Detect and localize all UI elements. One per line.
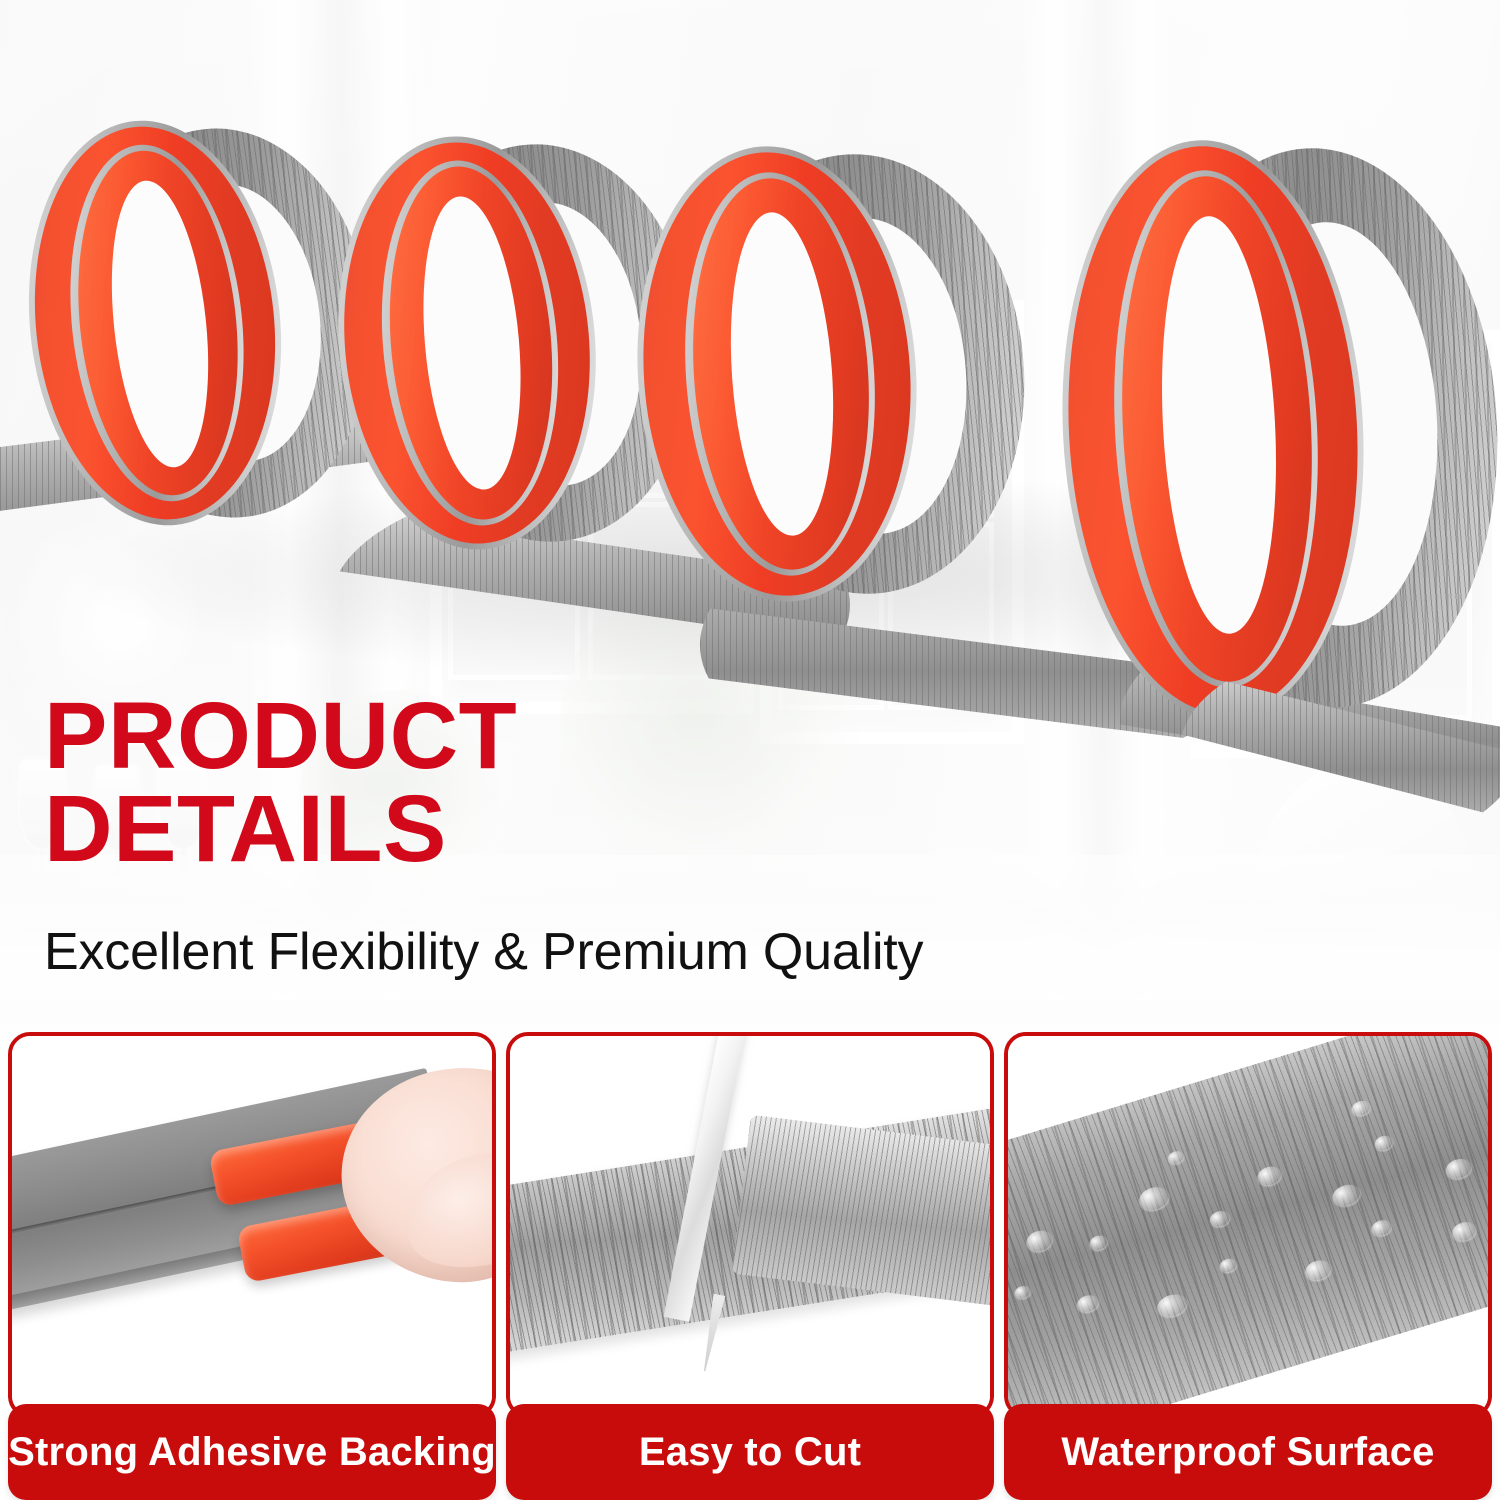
page-title: PRODUCT DETAILS [44, 690, 904, 876]
water-droplet [1136, 1184, 1171, 1214]
adhesive-backing-photo [12, 1036, 492, 1414]
headline-line-1: PRODUCT [44, 683, 517, 789]
panel-frame [8, 1032, 496, 1418]
water-droplet [1255, 1164, 1283, 1188]
water-droplet [1350, 1099, 1372, 1118]
headline-line-2: DETAILS [44, 783, 904, 876]
water-droplet [1013, 1284, 1032, 1300]
feature-panel-waterproof: Waterproof Surface [1004, 1032, 1492, 1500]
feature-panel-cut: Easy to Cut [506, 1032, 994, 1500]
water-droplet [1208, 1209, 1232, 1229]
coil-4 [1035, 130, 1500, 730]
water-droplet [1370, 1218, 1394, 1238]
water-droplet [1088, 1234, 1109, 1253]
water-droplet [1218, 1257, 1238, 1274]
panel-frame [1004, 1032, 1492, 1418]
panel-caption-cut: Easy to Cut [506, 1404, 994, 1500]
water-droplet [1166, 1149, 1185, 1165]
water-droplet [1443, 1156, 1473, 1182]
waterproof-surface-photo [1008, 1036, 1488, 1414]
water-droplet [1330, 1182, 1363, 1209]
coil-3 [612, 138, 1032, 608]
product-details-poster: PRODUCT DETAILS Excellent Flexibility & … [0, 0, 1500, 1500]
easy-to-cut-photo [510, 1036, 990, 1414]
water-droplet [1155, 1291, 1190, 1320]
water-droplet [1024, 1228, 1055, 1255]
subheadline: Excellent Flexibility & Premium Quality [44, 925, 1244, 980]
panel-frame [506, 1032, 994, 1418]
feature-panels: Strong Adhesive Backing Easy to Cut [0, 1032, 1500, 1500]
water-droplet [1373, 1134, 1394, 1153]
water-droplet [1303, 1257, 1333, 1283]
panel-caption-waterproof: Waterproof Surface [1004, 1404, 1492, 1500]
water-droplet [1450, 1219, 1478, 1243]
water-droplet [1075, 1293, 1101, 1315]
panel-caption-adhesive: Strong Adhesive Backing [8, 1404, 496, 1500]
feature-panel-adhesive: Strong Adhesive Backing [8, 1032, 496, 1500]
gray-woodgrain-strip [1008, 1036, 1488, 1414]
